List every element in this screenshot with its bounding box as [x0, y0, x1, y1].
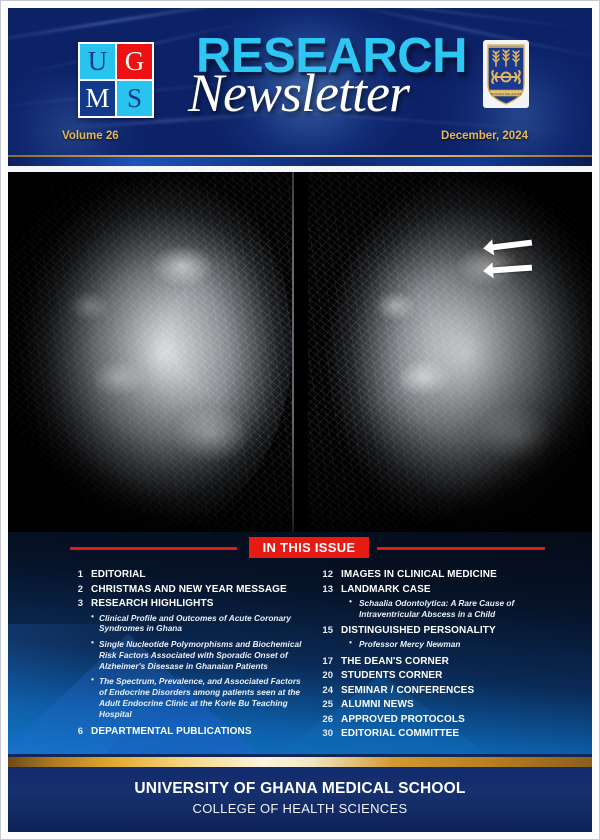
newsletter-wordmark: RESEARCH Newsletter	[188, 28, 478, 128]
masthead-blue-strip	[8, 157, 592, 166]
toc-page-number: 12	[313, 569, 333, 580]
ugms-logo-cell-m: M	[80, 81, 115, 116]
toc-subitem-list: Schaalia Odontolytica: A Rare Cause of I…	[349, 598, 563, 620]
svg-text:NUNTEM FIRI ANOPA: NUNTEM FIRI ANOPA	[491, 92, 523, 96]
mammogram-tissue-texture	[8, 172, 292, 532]
toc-entry-title: EDITORIAL COMMITTEE	[341, 728, 459, 741]
newsletter-cover-page: U G M S RESEARCH Newsletter	[0, 0, 600, 840]
mammogram-right-breast	[308, 172, 592, 532]
toc-entry[interactable]: 30EDITORIAL COMMITTEE	[313, 728, 563, 741]
toc-entry[interactable]: 12IMAGES IN CLINICAL MEDICINE	[313, 569, 563, 582]
table-of-contents-panel: IN THIS ISSUE 1EDITORIAL2CHRISTMAS AND N…	[8, 532, 592, 754]
toc-rule-right	[377, 547, 545, 550]
toc-entry[interactable]: 13LANDMARK CASE	[313, 584, 563, 597]
toc-page-number: 2	[63, 584, 83, 595]
toc-subitem[interactable]: Single Nucleotide Polymorphisms and Bioc…	[91, 639, 303, 671]
university-crest-icon: NUNTEM FIRI ANOPA	[481, 38, 531, 110]
toc-page-number: 25	[313, 699, 333, 710]
in-this-issue-badge: IN THIS ISSUE	[249, 537, 369, 558]
toc-entry[interactable]: 26APPROVED PROTOCOLS	[313, 714, 563, 727]
toc-entry[interactable]: 15DISTINGUISHED PERSONALITY	[313, 625, 563, 638]
toc-entry-title: RESEARCH HIGHLIGHTS	[91, 598, 213, 611]
toc-entry-title: STUDENTS CORNER	[341, 670, 443, 683]
toc-entry[interactable]: 24SEMINAR / CONFERENCES	[313, 685, 563, 698]
wordmark-newsletter: Newsletter	[188, 62, 409, 124]
toc-page-number: 3	[63, 598, 83, 609]
ugms-logo-cell-u: U	[80, 44, 115, 79]
toc-entry-title: LANDMARK CASE	[341, 584, 431, 597]
toc-entry-title: IMAGES IN CLINICAL MEDICINE	[341, 569, 497, 582]
footer-gold-bar	[8, 757, 592, 767]
toc-right-column: 12IMAGES IN CLINICAL MEDICINE13LANDMARK …	[313, 569, 563, 743]
footer-institution-name: UNIVERSITY OF GHANA MEDICAL SCHOOL	[8, 780, 592, 798]
toc-page-number: 15	[313, 625, 333, 636]
toc-page-number: 26	[313, 714, 333, 725]
ugms-logo: U G M S	[78, 42, 154, 118]
toc-entry-title: EDITORIAL	[91, 569, 146, 582]
toc-entry-title: CHRISTMAS AND NEW YEAR MESSAGE	[91, 584, 287, 597]
toc-entry[interactable]: 20STUDENTS CORNER	[313, 670, 563, 683]
toc-page-number: 13	[313, 584, 333, 595]
mammogram-center-divider	[292, 172, 294, 532]
toc-entry[interactable]: 25ALUMNI NEWS	[313, 699, 563, 712]
volume-date-row: Volume 26 December, 2024	[0, 130, 600, 156]
toc-entry[interactable]: 3RESEARCH HIGHLIGHTS	[63, 598, 303, 611]
toc-page-number: 1	[63, 569, 83, 580]
toc-entry[interactable]: 6DEPARTMENTAL PUBLICATIONS	[63, 726, 303, 739]
toc-entry[interactable]: 1EDITORIAL	[63, 569, 303, 582]
toc-entry-title: ALUMNI NEWS	[341, 699, 414, 712]
toc-entry-title: APPROVED PROTOCOLS	[341, 714, 465, 727]
toc-page-number: 30	[313, 728, 333, 739]
toc-subitem[interactable]: The Spectrum, Prevalence, and Associated…	[91, 676, 303, 719]
toc-entry-title: THE DEAN'S CORNER	[341, 656, 449, 669]
issue-date-label: December, 2024	[441, 130, 528, 142]
masthead-banner: U G M S RESEARCH Newsletter	[0, 0, 600, 172]
toc-entry[interactable]: 17THE DEAN'S CORNER	[313, 656, 563, 669]
mammogram-tissue-texture	[308, 172, 592, 532]
toc-entry-title: SEMINAR / CONFERENCES	[341, 685, 474, 698]
toc-entry-title: DISTINGUISHED PERSONALITY	[341, 625, 496, 638]
header-light-streak	[261, 0, 589, 30]
toc-subitem-list: Clinical Profile and Outcomes of Acute C…	[91, 613, 303, 720]
toc-subitem[interactable]: Clinical Profile and Outcomes of Acute C…	[91, 613, 303, 635]
toc-page-number: 24	[313, 685, 333, 696]
ugms-logo-cell-s: S	[117, 81, 152, 116]
mammogram-image	[8, 172, 592, 532]
mammogram-left-breast	[8, 172, 292, 532]
toc-subitem[interactable]: Professor Mercy Newman	[349, 639, 563, 650]
toc-left-column: 1EDITORIAL2CHRISTMAS AND NEW YEAR MESSAG…	[63, 569, 303, 740]
toc-entry[interactable]: 2CHRISTMAS AND NEW YEAR MESSAGE	[63, 584, 303, 597]
toc-page-number: 20	[313, 670, 333, 681]
toc-subitem[interactable]: Schaalia Odontolytica: A Rare Cause of I…	[349, 598, 563, 620]
toc-page-number: 17	[313, 656, 333, 667]
volume-label: Volume 26	[62, 130, 119, 142]
toc-entry-title: DEPARTMENTAL PUBLICATIONS	[91, 726, 252, 739]
footer-college-name: COLLEGE OF HEALTH SCIENCES	[8, 801, 592, 816]
ugms-logo-cell-g: G	[117, 44, 152, 79]
toc-page-number: 6	[63, 726, 83, 737]
toc-subitem-list: Professor Mercy Newman	[349, 639, 563, 650]
toc-rule-left	[70, 547, 237, 550]
page-footer: UNIVERSITY OF GHANA MEDICAL SCHOOL COLLE…	[8, 767, 592, 832]
